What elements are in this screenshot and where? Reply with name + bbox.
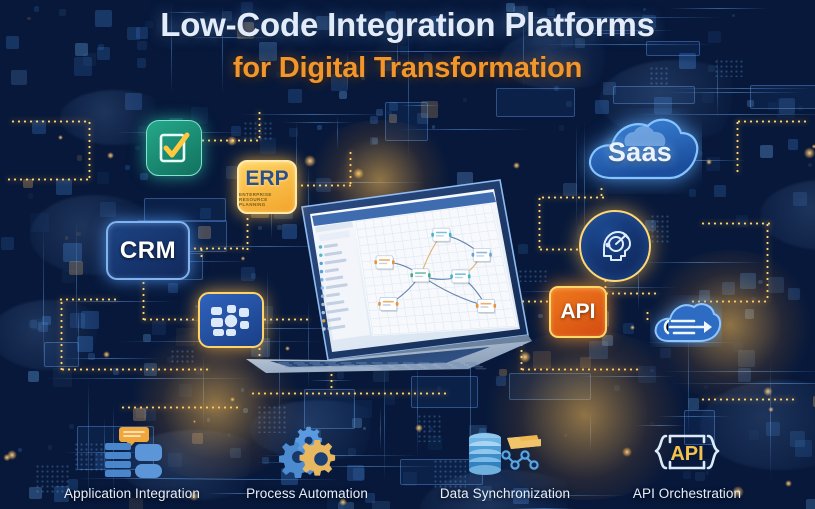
badge-saas-label: Saas — [586, 117, 694, 187]
badge-crm-label: CRM — [120, 237, 176, 265]
badge-api-label: API — [560, 300, 595, 324]
badge-erp[interactable]: ERP ENTERPRISE RESOURCE PLANNING — [237, 160, 297, 214]
feature-data-synchronization[interactable]: Data Synchronization — [405, 426, 605, 501]
badge-crm[interactable]: CRM — [106, 221, 190, 280]
cloud-data-transfer-icon[interactable] — [650, 295, 722, 347]
badge-erp-sublabel: ENTERPRISE RESOURCE PLANNING — [239, 192, 295, 207]
feature-process-automation[interactable]: Process Automation — [207, 426, 407, 501]
feature-label: Data Synchronization — [405, 486, 605, 501]
svg-text:API: API — [670, 443, 703, 465]
network-nodes-icon[interactable] — [198, 292, 264, 348]
infographic-canvas: Low-Code Integration Platforms for Digit… — [0, 0, 815, 509]
page-title: Low-Code Integration Platforms — [0, 6, 815, 44]
checklist-approval-icon[interactable] — [146, 120, 202, 176]
app-integration-icon — [32, 426, 232, 480]
feature-label: Application Integration — [32, 486, 232, 501]
badge-erp-label: ERP — [245, 168, 288, 189]
database-sync-icon — [405, 426, 605, 480]
gears-icon — [207, 426, 407, 480]
page-subtitle: for Digital Transformation — [0, 52, 815, 85]
feature-label: API Orchestration — [587, 486, 787, 501]
api-braces-icon: API — [587, 426, 787, 480]
feature-label: Process Automation — [207, 486, 407, 501]
badge-api[interactable]: API — [549, 286, 607, 338]
feature-api-orchestration[interactable]: API API Orchestration — [587, 426, 787, 501]
feature-application-integration[interactable]: Application Integration — [32, 426, 232, 501]
ai-head-icon[interactable] — [579, 210, 651, 282]
